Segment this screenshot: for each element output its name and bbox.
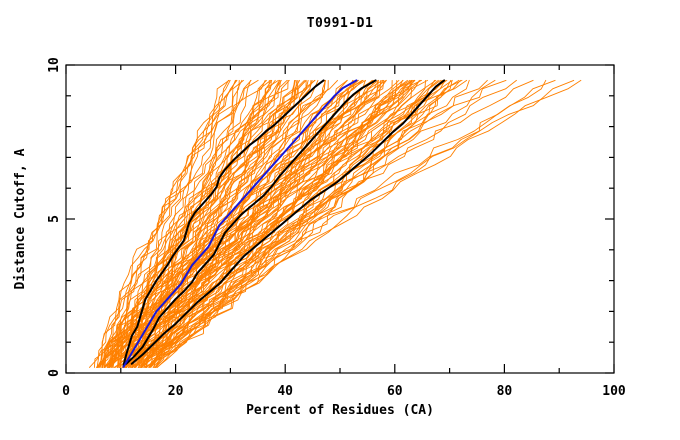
y-axis-title: Distance Cutoff, A xyxy=(13,148,28,289)
y-tick-label: 5 xyxy=(47,215,62,223)
y-axis-tick-labels: 0510 xyxy=(47,57,62,377)
x-axis-title: Percent of Residues (CA) xyxy=(246,403,434,418)
x-tick-label: 100 xyxy=(602,384,626,399)
x-tick-label: 20 xyxy=(168,384,184,399)
x-tick-label: 40 xyxy=(277,384,293,399)
x-tick-label: 80 xyxy=(497,384,513,399)
x-tick-label: 0 xyxy=(62,384,70,399)
y-tick-label: 0 xyxy=(47,369,62,377)
chart-figure: T0991-D1 020406080100 0510 Percent of Re… xyxy=(0,0,680,440)
y-tick-label: 10 xyxy=(47,57,62,73)
ensemble-curve xyxy=(145,80,397,367)
ensemble-curves xyxy=(89,80,580,367)
plot-canvas: 020406080100 0510 Percent of Residues (C… xyxy=(0,0,680,440)
ensemble-curve xyxy=(130,80,398,367)
x-tick-label: 60 xyxy=(387,384,403,399)
x-axis-tick-labels: 020406080100 xyxy=(62,384,626,399)
